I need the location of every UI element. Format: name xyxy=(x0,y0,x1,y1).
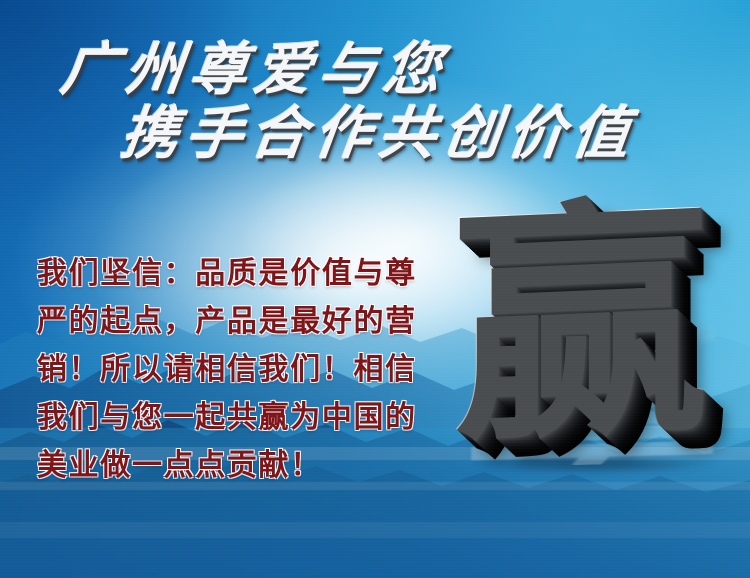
three-d-character-sculpture: 赢 赢 xyxy=(455,200,745,490)
body-copy-line: 我们坚信：品质是价值与尊 xyxy=(37,250,487,298)
body-copy-line: 销！所以请相信我们！相信 xyxy=(37,346,487,394)
body-copy-line: 我们与您一起共赢为中国的 xyxy=(37,394,487,442)
sculpture-glyph-win: 赢 xyxy=(453,195,708,456)
body-copy-block: 我们坚信：品质是价值与尊 严的起点，产品是最好的营 销！所以请相信我们！相信 我… xyxy=(37,250,487,490)
promo-banner: 赢 赢 广州尊爱与您 携手合作共创价值 我们坚信：品质是价值与尊 严的起点，产品… xyxy=(0,0,750,578)
body-copy-line: 严的起点，产品是最好的营 xyxy=(37,298,487,346)
water-highlight-band xyxy=(0,522,750,538)
headline-line-2: 携手合作共创价值 xyxy=(117,88,642,170)
body-copy-line: 美业做一点点贡献！ xyxy=(37,442,487,490)
